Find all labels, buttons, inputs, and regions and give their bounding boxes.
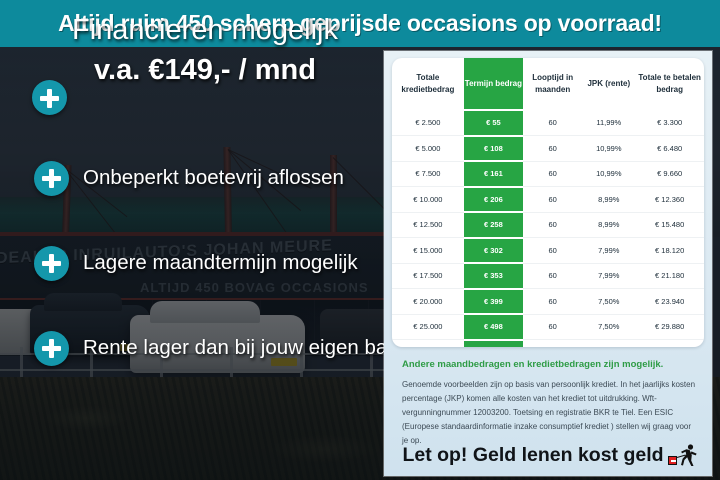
cell-duration: 60 xyxy=(523,289,582,315)
table-row: € 20.000 € 399 60 7,50% € 23.940 xyxy=(392,289,704,315)
cell-apr: 10,99% xyxy=(582,161,635,187)
cell-duration: 60 xyxy=(523,314,582,340)
table-row: € 10.000 € 206 60 8,99% € 12.360 xyxy=(392,187,704,213)
cell-apr: 8,99% xyxy=(582,187,635,213)
column-header-total-credit: Totale kredietbedrag xyxy=(392,58,464,110)
disclaimer-title: Andere maandbedragen en kredietbedragen … xyxy=(402,359,698,370)
ad-banner-root: Altijd ruim 450 scherp geprijsde occasio… xyxy=(0,0,720,480)
cell-total-credit: € 15.000 xyxy=(392,238,464,264)
table-row: € 2.500 € 55 60 11,99% € 3.300 xyxy=(392,110,704,136)
cell-total-payable: € 3.300 xyxy=(635,110,704,136)
cell-duration: 60 xyxy=(523,238,582,264)
table-row: € 30.000 € 598 60 7,50% € 35.880 xyxy=(392,340,704,348)
promo-bullet-label: Rente lager dan bij jouw eigen bank xyxy=(83,336,409,360)
cell-apr: 7,99% xyxy=(582,238,635,264)
cell-total-payable: € 15.480 xyxy=(635,212,704,238)
disclaimer-body: Genoemde voorbeelden zijn op basis van p… xyxy=(402,378,698,448)
legal-warning: Let op! Geld lenen kost geld xyxy=(400,442,700,468)
plus-icon xyxy=(34,331,69,366)
cell-apr: 7,50% xyxy=(582,314,635,340)
disclaimer-block: Andere maandbedragen en kredietbedragen … xyxy=(402,359,698,448)
legal-warning-text: Let op! Geld lenen kost geld xyxy=(402,444,663,467)
cell-duration: 60 xyxy=(523,212,582,238)
cell-total-payable: € 9.660 xyxy=(635,161,704,187)
cell-apr: 7,50% xyxy=(582,289,635,315)
promo-bullet-1: Onbeperkt boetevrij aflossen xyxy=(34,160,390,196)
cell-total-credit: € 5.000 xyxy=(392,136,464,162)
cell-total-credit: € 10.000 xyxy=(392,187,464,213)
cell-term-amount: € 55 xyxy=(464,110,523,136)
promo-headline: Financieren mogelijk v.a. €149,- / mnd xyxy=(30,14,380,87)
table-row: € 17.500 € 353 60 7,99% € 21.180 xyxy=(392,263,704,289)
table-row: € 12.500 € 258 60 8,99% € 15.480 xyxy=(392,212,704,238)
table-row: € 15.000 € 302 60 7,99% € 18.120 xyxy=(392,238,704,264)
cell-apr: 7,99% xyxy=(582,263,635,289)
cell-total-credit: € 30.000 xyxy=(392,340,464,348)
headline-line-1: Financieren mogelijk xyxy=(30,14,380,47)
finance-panel: Totale kredietbedrag Termijn bedrag Loop… xyxy=(384,51,712,476)
cell-total-credit: € 20.000 xyxy=(392,289,464,315)
table-row: € 5.000 € 108 60 10,99% € 6.480 xyxy=(392,136,704,162)
cell-apr: 8,99% xyxy=(582,212,635,238)
rates-table: Totale kredietbedrag Termijn bedrag Loop… xyxy=(392,58,704,347)
cell-term-amount: € 206 xyxy=(464,187,523,213)
headline-line-2: v.a. €149,- / mnd xyxy=(30,54,380,87)
cell-term-amount: € 353 xyxy=(464,263,523,289)
cell-term-amount: € 598 xyxy=(464,340,523,348)
cell-total-credit: € 25.000 xyxy=(392,314,464,340)
cell-duration: 60 xyxy=(523,340,582,348)
cell-duration: 60 xyxy=(523,263,582,289)
cell-apr: 7,50% xyxy=(582,340,635,348)
cell-term-amount: € 498 xyxy=(464,314,523,340)
cell-term-amount: € 258 xyxy=(464,212,523,238)
cell-total-payable: € 6.480 xyxy=(635,136,704,162)
cell-duration: 60 xyxy=(523,136,582,162)
cell-total-payable: € 29.880 xyxy=(635,314,704,340)
cell-total-credit: € 17.500 xyxy=(392,263,464,289)
cell-total-payable: € 21.180 xyxy=(635,263,704,289)
cell-total-payable: € 23.940 xyxy=(635,289,704,315)
column-header-duration: Looptijd in maanden xyxy=(523,58,582,110)
rates-table-body: € 2.500 € 55 60 11,99% € 3.300 € 5.000 €… xyxy=(392,110,704,347)
cell-total-credit: € 7.500 xyxy=(392,161,464,187)
walking-man-glyph xyxy=(678,444,698,468)
column-header-apr: JPK (rente) xyxy=(582,58,635,110)
cell-apr: 11,99% xyxy=(582,110,635,136)
cell-term-amount: € 302 xyxy=(464,238,523,264)
cell-total-payable: € 18.120 xyxy=(635,238,704,264)
plus-icon xyxy=(34,161,69,196)
cell-total-credit: € 12.500 xyxy=(392,212,464,238)
cell-duration: 60 xyxy=(523,161,582,187)
cell-total-credit: € 2.500 xyxy=(392,110,464,136)
cell-duration: 60 xyxy=(523,110,582,136)
promo-bullet-3: Rente lager dan bij jouw eigen bank xyxy=(34,330,390,366)
cell-apr: 10,99% xyxy=(582,136,635,162)
table-row: € 7.500 € 161 60 10,99% € 9.660 xyxy=(392,161,704,187)
cell-term-amount: € 161 xyxy=(464,161,523,187)
column-header-term-amount: Termijn bedrag xyxy=(464,58,523,110)
promo-bullet-2: Lagere maandtermijn mogelijk xyxy=(34,245,390,281)
promo-bullet-label: Onbeperkt boetevrij aflossen xyxy=(83,166,344,190)
red-block-icon xyxy=(668,456,677,465)
table-header-row: Totale kredietbedrag Termijn bedrag Loop… xyxy=(392,58,704,110)
cell-duration: 60 xyxy=(523,187,582,213)
table-row: € 25.000 € 498 60 7,50% € 29.880 xyxy=(392,314,704,340)
column-header-total-payable: Totale te betalen bedrag xyxy=(635,58,704,110)
promo-bullet-label: Lagere maandtermijn mogelijk xyxy=(83,251,358,275)
cell-term-amount: € 108 xyxy=(464,136,523,162)
rates-card: Totale kredietbedrag Termijn bedrag Loop… xyxy=(392,58,704,347)
cell-term-amount: € 399 xyxy=(464,289,523,315)
walking-man-pulling-block-icon xyxy=(668,442,698,468)
plus-icon xyxy=(34,246,69,281)
promo-copy: Financieren mogelijk v.a. €149,- / mnd O… xyxy=(0,0,390,433)
cell-total-payable: € 12.360 xyxy=(635,187,704,213)
cell-total-payable: € 35.880 xyxy=(635,340,704,348)
